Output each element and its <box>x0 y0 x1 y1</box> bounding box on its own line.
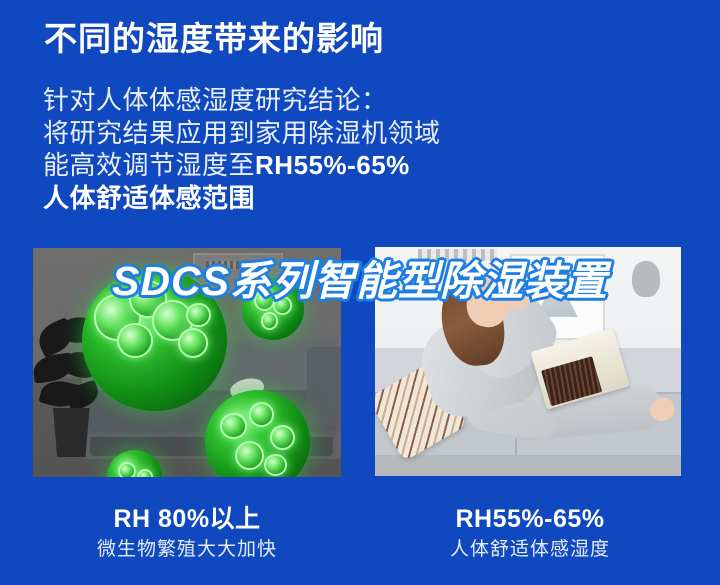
photo-comfort-humidity <box>375 247 681 476</box>
intro-line-4: 人体舒适体感范围 <box>43 182 513 215</box>
microbe-cell <box>261 312 279 330</box>
plant-pot <box>50 408 92 458</box>
sofa-armrest <box>307 347 341 426</box>
intro-line-3-highlight: RH55%-65% <box>255 150 410 180</box>
microbe-cell <box>186 303 210 327</box>
photo-high-humidity <box>33 248 341 477</box>
intro-line-3: 能高效调节湿度至RH55%-65% <box>43 149 513 182</box>
microbe-cell <box>178 328 208 358</box>
microbe-cell <box>137 469 153 477</box>
microbe-cell <box>264 454 287 477</box>
caption-right-subtitle: 人体舒适体感湿度 <box>380 537 680 563</box>
microbe-cell <box>249 402 274 427</box>
caption-left-subtitle: 微生物繁殖大大加快 <box>37 537 337 563</box>
caption-right-title: RH55%-65% <box>380 504 680 534</box>
microbe-cell <box>117 323 153 358</box>
microbe-cell <box>220 413 247 440</box>
microbe-cell <box>273 296 292 315</box>
caption-left-title: RH 80%以上 <box>37 504 337 534</box>
dark-room-scene <box>33 248 341 477</box>
microbe-sphere <box>82 269 227 411</box>
microbe-cell <box>254 290 275 311</box>
intro-line-2: 将研究结果应用到家用除湿机领域 <box>43 117 513 150</box>
intro-line-1: 针对人体体感湿度研究结论： <box>43 84 513 117</box>
microbe-sphere <box>242 278 304 340</box>
woman-reading <box>375 247 681 476</box>
intro-paragraph: 针对人体体感湿度研究结论： 将研究结果应用到家用除湿机领域 能高效调节湿度至RH… <box>43 84 513 214</box>
intro-line-3-text: 能高效调节湿度至 <box>43 150 255 180</box>
microbe-cell <box>235 441 264 470</box>
caption-comfort-humidity: RH55%-65% 人体舒适体感湿度 <box>380 504 680 563</box>
microbe-cell <box>118 462 136 477</box>
poster-root: 不同的湿度带来的影响 针对人体体感湿度研究结论： 将研究结果应用到家用除湿机领域… <box>0 0 720 585</box>
page-title: 不同的湿度带来的影响 <box>44 19 384 59</box>
bright-room-scene <box>375 247 681 476</box>
caption-high-humidity: RH 80%以上 微生物繁殖大大加快 <box>37 504 337 563</box>
microbe-cell <box>270 425 295 450</box>
